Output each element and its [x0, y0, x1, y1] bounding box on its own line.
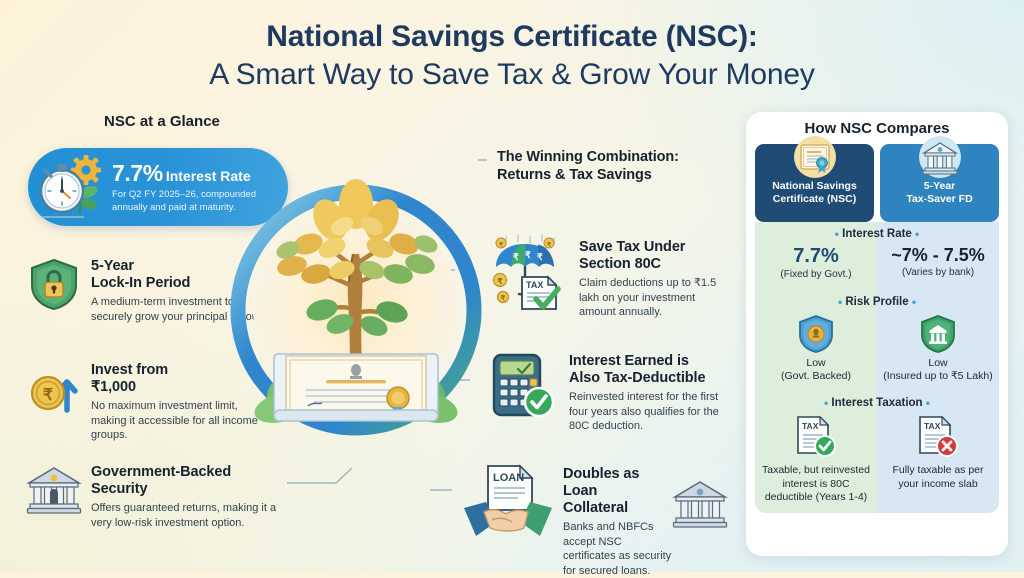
shield-lock-icon	[26, 256, 82, 312]
svg-text:₹: ₹	[501, 295, 506, 303]
government-bank-icon	[26, 462, 82, 518]
cell-label: Taxable, but reinvested interest is 80C …	[760, 464, 872, 504]
feature-heading: Government-Backed Security	[91, 464, 278, 498]
comparison-column-headers: National Savings Certificate (NSC)	[755, 144, 999, 222]
cell-note: (Varies by bank)	[882, 267, 994, 280]
svg-text:₹: ₹	[497, 277, 502, 286]
small-bank-icon	[672, 476, 728, 532]
tree-growing-from-certificate-icon	[222, 158, 490, 458]
feature-body: Reinvested interest for the first four y…	[569, 390, 734, 434]
umbrella-rupee-tax-icon: ₹₹₹ ₹ ₹ ₹ ₹ TAX	[492, 233, 570, 311]
blue-shield-emblem-icon	[797, 314, 835, 354]
cell-nsc-risk-profile: Low (Govt. Backed)	[755, 290, 877, 392]
cell-label: Low (Govt. Backed)	[760, 357, 872, 384]
comparison-row-interest-taxation: • Interest Taxation • TAX	[755, 391, 999, 512]
svg-text:LOAN: LOAN	[493, 472, 524, 484]
svg-text:TAX: TAX	[924, 421, 941, 431]
cell-label: Low (Insured up to ₹5 Lakh)	[882, 357, 994, 384]
handshake-loan-document-icon: LOAN	[462, 462, 554, 542]
rupee-coin-arrow-up-icon: ₹	[26, 360, 82, 416]
tax-document-cross-icon: TAX	[916, 415, 960, 461]
cell-fd-interest-rate: ~7% - 7.5% (Varies by bank)	[877, 222, 999, 290]
cell-label: Fully taxable as per your income slab	[882, 464, 994, 491]
bank-building-icon	[919, 136, 961, 178]
feature-heading-line1: 5-Year	[91, 258, 134, 274]
feature-heading: Doubles as Loan Collateral	[563, 466, 674, 517]
feature-heading-line2: ₹1,000	[91, 379, 136, 395]
feature-heading-line1: Government-Backed	[91, 464, 231, 480]
feature-heading-line2: Security	[91, 481, 147, 497]
svg-text:₹: ₹	[525, 250, 531, 260]
svg-text:TAX: TAX	[526, 280, 543, 290]
cell-value: 7.7%	[760, 246, 872, 267]
comparison-row-risk-profile: • Risk Profile • Low (Govt. Backed)	[755, 290, 999, 392]
comparison-title: How NSC Compares	[755, 120, 999, 137]
svg-text:₹: ₹	[547, 242, 551, 249]
column-header-fd-label: 5-Year Tax-Saver FD	[884, 180, 995, 206]
feature-heading-line1: Invest from	[91, 362, 168, 378]
certificate-seal-icon	[794, 136, 836, 178]
feature-loan-collateral: LOAN Doubles as Loan Collateral Banks an…	[462, 462, 674, 578]
feature-heading-line2: Collateral	[563, 500, 628, 516]
infographic-canvas: National Savings Certificate (NSC): A Sm…	[0, 0, 1024, 572]
tax-document-check-icon: TAX	[794, 415, 838, 461]
svg-text:₹: ₹	[43, 387, 53, 404]
glance-section-label: NSC at a Glance	[104, 113, 220, 130]
svg-text:₹: ₹	[499, 242, 503, 249]
middle-headline-line1: The Winning Combination:	[497, 149, 679, 165]
cell-value: ~7% - 7.5%	[882, 246, 994, 265]
green-shield-bank-icon	[919, 314, 957, 354]
cell-nsc-interest-rate: 7.7% (Fixed by Govt.)	[755, 222, 877, 290]
cell-nsc-interest-taxation: TAX Taxable, but reinvested interest is …	[755, 391, 877, 512]
feature-heading: Interest Earned is Also Tax-Deductible	[569, 353, 734, 387]
cell-note: (Fixed by Govt.)	[760, 269, 872, 282]
column-header-nsc: National Savings Certificate (NSC)	[755, 144, 874, 222]
middle-headline: The Winning Combination: Returns & Tax S…	[497, 149, 679, 184]
feature-heading-line1: Interest Earned is	[569, 353, 689, 369]
svg-text:₹: ₹	[537, 252, 543, 262]
feature-heading-line1: Save Tax Under	[579, 239, 685, 255]
comparison-row-interest-rate: • Interest Rate • 7.7% (Fixed by Govt.) …	[755, 222, 999, 290]
column-header-fd: 5-Year Tax-Saver FD	[880, 144, 999, 222]
feature-section-80c: ₹₹₹ ₹ ₹ ₹ ₹ TAX Save Tax Un	[498, 233, 728, 320]
cell-fd-interest-taxation: TAX Fully taxable as per your income sla…	[877, 391, 999, 512]
feature-body: Offers guaranteed returns, making it a v…	[91, 501, 278, 530]
feature-body: Claim deductions up to ₹1.5 lakh on your…	[579, 276, 728, 320]
svg-text:TAX: TAX	[802, 421, 819, 431]
feature-heading-line2: Section 80C	[579, 256, 661, 272]
cell-fd-risk-profile: Low (Insured up to ₹5 Lakh)	[877, 290, 999, 392]
feature-heading-line2: Lock-In Period	[91, 275, 190, 291]
feature-government-backed: Government-Backed Security Offers guaran…	[26, 462, 278, 530]
feature-heading: Save Tax Under Section 80C	[579, 239, 728, 273]
middle-headline-line2: Returns & Tax Savings	[497, 167, 652, 183]
rate-value: 7.7%	[112, 160, 163, 186]
svg-text:₹: ₹	[513, 252, 519, 262]
feature-interest-tax-deductible: Interest Earned is Also Tax-Deductible R…	[488, 349, 734, 434]
stopwatch-growth-icon	[36, 154, 112, 220]
column-header-nsc-label: National Savings Certificate (NSC)	[759, 180, 870, 206]
comparison-card: How NSC Compares	[746, 112, 1008, 556]
feature-body: Banks and NBFCs accept NSC certificates …	[563, 520, 674, 578]
calculator-check-icon	[488, 349, 560, 421]
feature-heading-line1: Doubles as Loan	[563, 466, 639, 499]
feature-heading-line2: Also Tax-Deductible	[569, 370, 705, 386]
